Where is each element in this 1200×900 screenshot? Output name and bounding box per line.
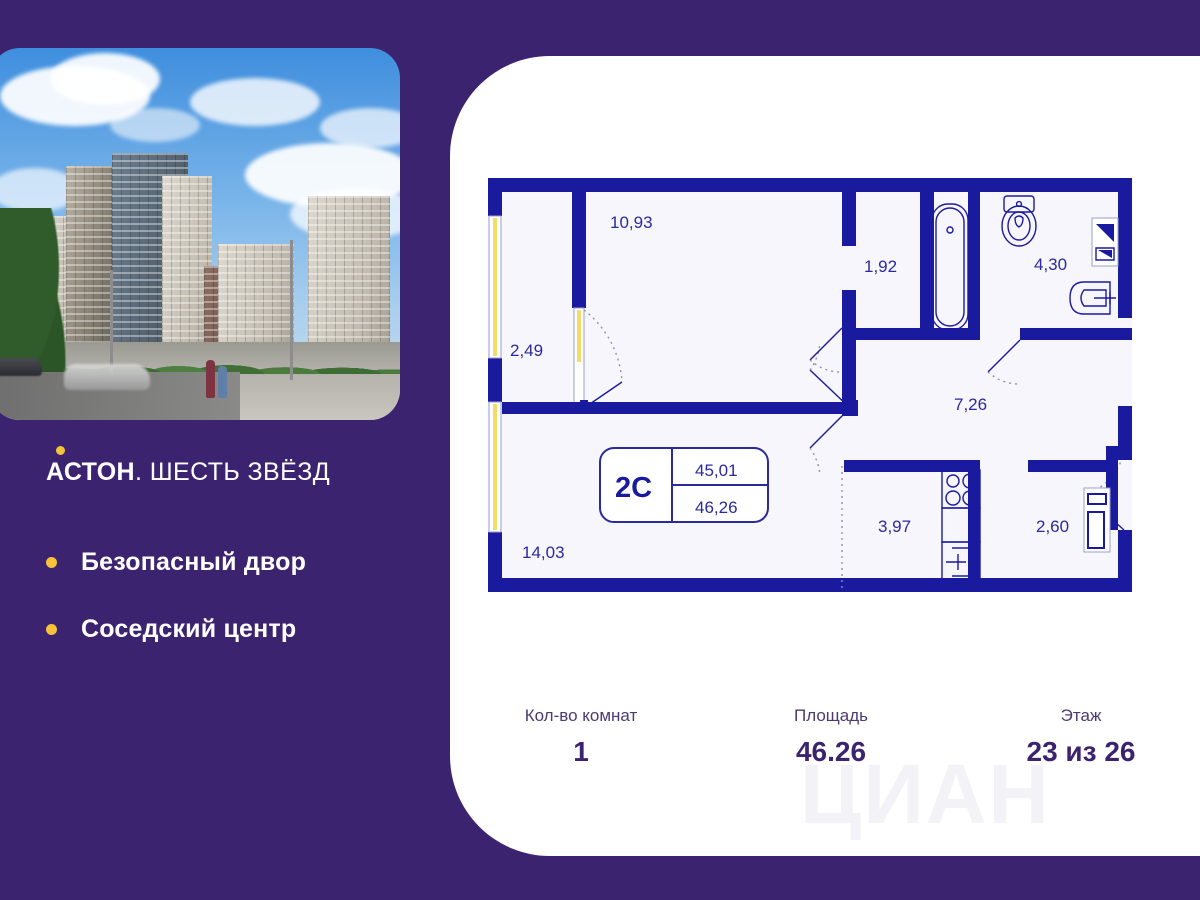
- stats-row: Кол-во комнат 1 Площадь 46.26 Этаж 23 из…: [506, 706, 1156, 768]
- listing-card-page: АСТОН. ШЕСТЬ ЗВЁЗД Безопасный двор Сосед…: [0, 0, 1200, 900]
- cloud: [190, 78, 320, 126]
- feature-item: Безопасный двор: [46, 548, 306, 577]
- stat-label: Этаж: [1006, 706, 1156, 726]
- area-label-balcony: 2,49: [510, 341, 543, 360]
- pedestrian: [218, 366, 227, 398]
- area-label-bathroom: 4,30: [1034, 255, 1067, 274]
- area-label-living: 14,03: [522, 543, 565, 562]
- brand-logo: АСТОН. ШЕСТЬ ЗВЁЗД: [46, 458, 330, 487]
- feature-list: Безопасный двор Соседский центр: [46, 548, 306, 682]
- area-label-hallway: 7,26: [954, 395, 987, 414]
- promo-panel: АСТОН. ШЕСТЬ ЗВЁЗД Безопасный двор Сосед…: [0, 0, 430, 900]
- feature-label: Безопасный двор: [81, 548, 306, 577]
- stat-label: Кол-во комнат: [506, 706, 656, 726]
- area-label-room-top: 10,93: [610, 213, 653, 232]
- brand-accent-dot: [56, 446, 65, 455]
- parked-car: [0, 358, 42, 376]
- stat-value: 1: [506, 736, 656, 768]
- street-lamp: [290, 240, 293, 380]
- apartment-type-badge: 2С 45,01 46,26: [600, 448, 768, 522]
- brand-name-light: ШЕСТЬ ЗВЁЗД: [142, 458, 330, 486]
- floor-plan[interactable]: .w { fill:#1A1A9E; } .fl { fill:#F7F6FC;…: [480, 170, 1140, 600]
- stat-floor: Этаж 23 из 26: [1006, 706, 1156, 768]
- feature-label: Соседский центр: [81, 615, 296, 644]
- bullet-icon: [46, 624, 57, 635]
- pedestrian: [206, 360, 215, 398]
- area-label-storage: 1,92: [864, 257, 897, 276]
- brand-name-strong: АСТОН: [46, 458, 135, 486]
- badge-type: 2С: [615, 472, 652, 504]
- cloud: [320, 108, 400, 148]
- stat-value: 23 из 26: [1006, 736, 1156, 768]
- feature-item: Соседский центр: [46, 615, 306, 644]
- bullet-icon: [46, 557, 57, 568]
- cloud: [110, 108, 200, 142]
- area-label-kitchen: 3,97: [878, 517, 911, 536]
- badge-area-total: 46,26: [695, 498, 738, 517]
- cloud: [50, 53, 160, 105]
- building-photo: [0, 48, 400, 420]
- moving-car: [64, 364, 150, 390]
- stat-value: 46.26: [756, 736, 906, 768]
- stat-area: Площадь 46.26: [756, 706, 906, 768]
- stat-label: Площадь: [756, 706, 906, 726]
- area-label-wardrobe: 2,60: [1036, 517, 1069, 536]
- stat-rooms: Кол-во комнат 1: [506, 706, 656, 768]
- badge-area-living: 45,01: [695, 461, 738, 480]
- detail-card: .w { fill:#1A1A9E; } .fl { fill:#F7F6FC;…: [450, 56, 1200, 856]
